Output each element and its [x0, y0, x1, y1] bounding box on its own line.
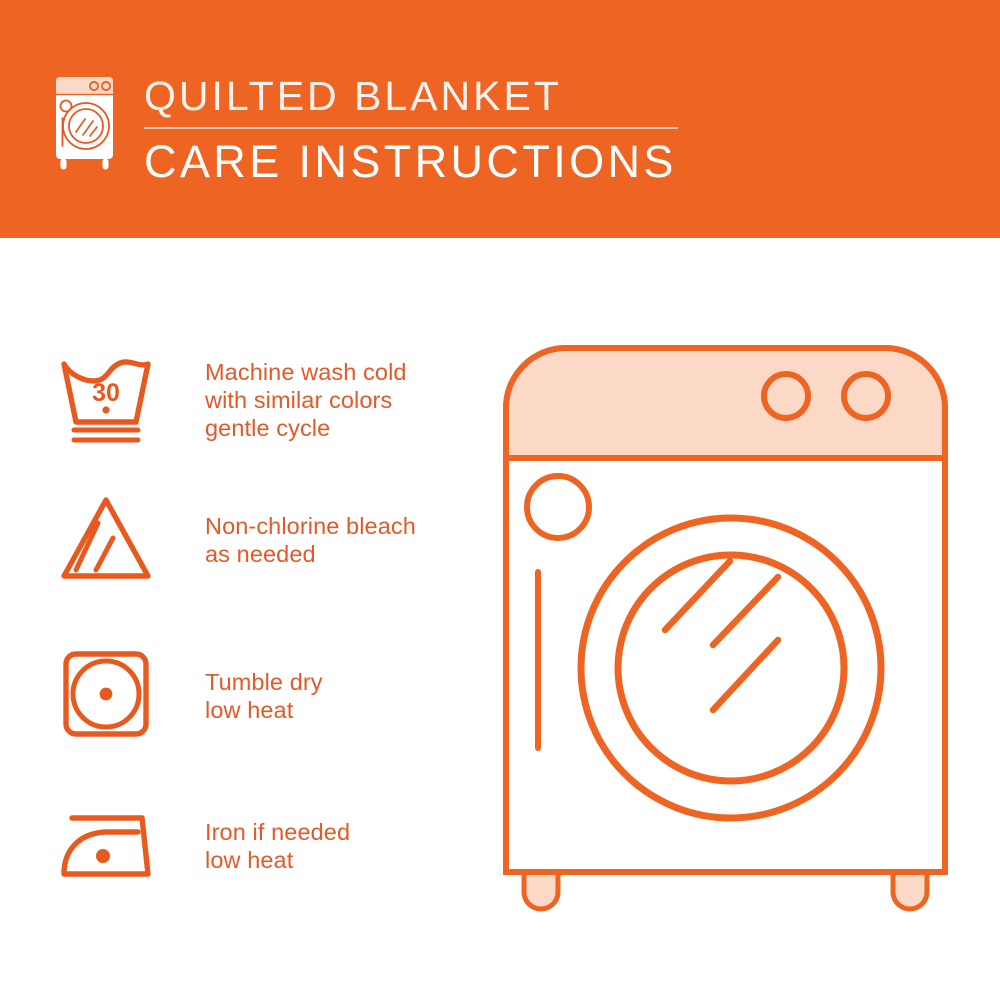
care-instructions-page: QUILTED BLANKET CARE INSTRUCTIONS 30 [0, 0, 1000, 1000]
leg-right [893, 870, 927, 909]
care-row-tumble-dry: Tumble dry low heat [50, 646, 470, 746]
page-header: QUILTED BLANKET CARE INSTRUCTIONS [0, 0, 1000, 238]
header-title-block: QUILTED BLANKET CARE INSTRUCTIONS [144, 72, 704, 189]
wash-temp-value: 30 [92, 379, 120, 407]
care-label-machine-wash: Machine wash cold with similar colors ge… [205, 358, 407, 442]
washing-machine-icon [45, 68, 125, 173]
care-label-iron: Iron if needed low heat [205, 818, 350, 874]
title-divider [144, 127, 678, 129]
care-row-machine-wash: 30 Machine wash cold with similar colors… [50, 350, 470, 450]
page-title-primary: QUILTED BLANKET [144, 72, 704, 120]
care-row-bleach: Non-chlorine bleach as needed [50, 490, 470, 590]
care-label-bleach: Non-chlorine bleach as needed [205, 512, 416, 568]
care-row-iron: Iron if needed low heat [50, 796, 470, 896]
non-chlorine-bleach-triangle-icon [50, 490, 162, 590]
page-title-secondary: CARE INSTRUCTIONS [144, 135, 704, 189]
care-instruction-list: 30 Machine wash cold with similar colors… [0, 238, 500, 1000]
wash-tub-30-gentle-icon: 30 [50, 350, 162, 450]
front-load-washing-machine-illustration [488, 330, 963, 930]
leg-left [524, 870, 558, 909]
care-label-tumble-dry: Tumble dry low heat [205, 668, 323, 724]
iron-low-heat-icon [50, 796, 162, 896]
tumble-dry-low-heat-icon [50, 646, 162, 746]
